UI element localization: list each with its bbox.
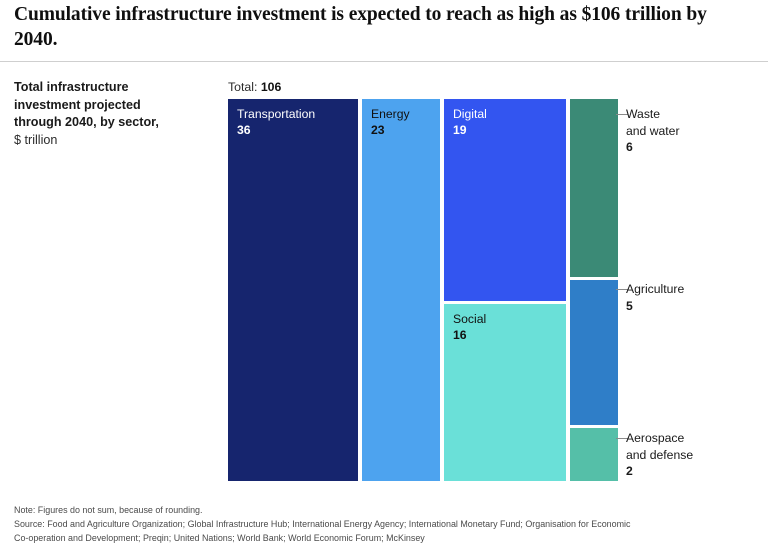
chart-subtitle-unit: $ trillion <box>14 132 214 150</box>
segment-energy-value: 23 <box>371 122 385 138</box>
segment-aerospace-and-defense[interactable] <box>570 428 618 481</box>
chart-subtitle-line-3: through 2040, by sector, <box>14 114 214 132</box>
callout-waste-and-water: Waste and water 6 <box>626 106 680 156</box>
callout-aerospace-and-defense-line-1: Aerospace <box>626 430 693 447</box>
chart-subtitle-line-1: Total infrastructure <box>14 79 214 97</box>
callout-aerospace-and-defense: Aerospace and defense 2 <box>626 430 693 480</box>
callout-aerospace-and-defense-value: 2 <box>626 463 693 480</box>
callout-waste-and-water-line-2: and water <box>626 123 680 140</box>
chart-subtitle-line-2: investment projected <box>14 97 214 115</box>
segment-social[interactable]: Social 16 <box>444 304 566 481</box>
callout-agriculture: Agriculture 5 <box>626 281 684 314</box>
segment-transportation-value: 36 <box>237 122 251 138</box>
footnote-note: Note: Figures do not sum, because of rou… <box>14 504 710 518</box>
segment-energy[interactable]: Energy 23 <box>362 99 440 481</box>
footnote-source-line-1: Source: Food and Agriculture Organizatio… <box>14 518 710 532</box>
segment-digital-value: 19 <box>453 122 467 138</box>
chart-footnotes: Note: Figures do not sum, because of rou… <box>14 504 710 546</box>
callout-aerospace-and-defense-line-2: and defense <box>626 447 693 464</box>
segment-agriculture[interactable] <box>570 280 618 425</box>
chart-subtitle: Total infrastructure investment projecte… <box>14 79 214 149</box>
segment-transportation[interactable]: Transportation 36 <box>228 99 358 481</box>
chart-total-label: Total: 106 <box>228 80 281 94</box>
segment-digital[interactable]: Digital 19 <box>444 99 566 301</box>
callout-agriculture-line-1: Agriculture <box>626 281 684 298</box>
chart-total-value: 106 <box>261 80 282 94</box>
segment-waste-and-water[interactable] <box>570 99 618 277</box>
segment-digital-label: Digital <box>453 106 487 122</box>
segment-social-label: Social <box>453 311 486 327</box>
callout-waste-and-water-line-1: Waste <box>626 106 680 123</box>
chart-total-label-text: Total: <box>228 80 257 94</box>
segment-transportation-label: Transportation <box>237 106 315 122</box>
footnote-source-line-2: Co-operation and Development; Preqin; Un… <box>14 532 710 546</box>
title-divider <box>0 61 768 62</box>
segment-social-value: 16 <box>453 327 467 343</box>
callout-waste-and-water-value: 6 <box>626 139 680 156</box>
page-title: Cumulative infrastructure investment is … <box>14 2 730 52</box>
callout-agriculture-value: 5 <box>626 298 684 315</box>
segment-energy-label: Energy <box>371 106 410 122</box>
marimekko-chart: Transportation 36 Energy 23 Digital 19 S… <box>228 99 618 481</box>
